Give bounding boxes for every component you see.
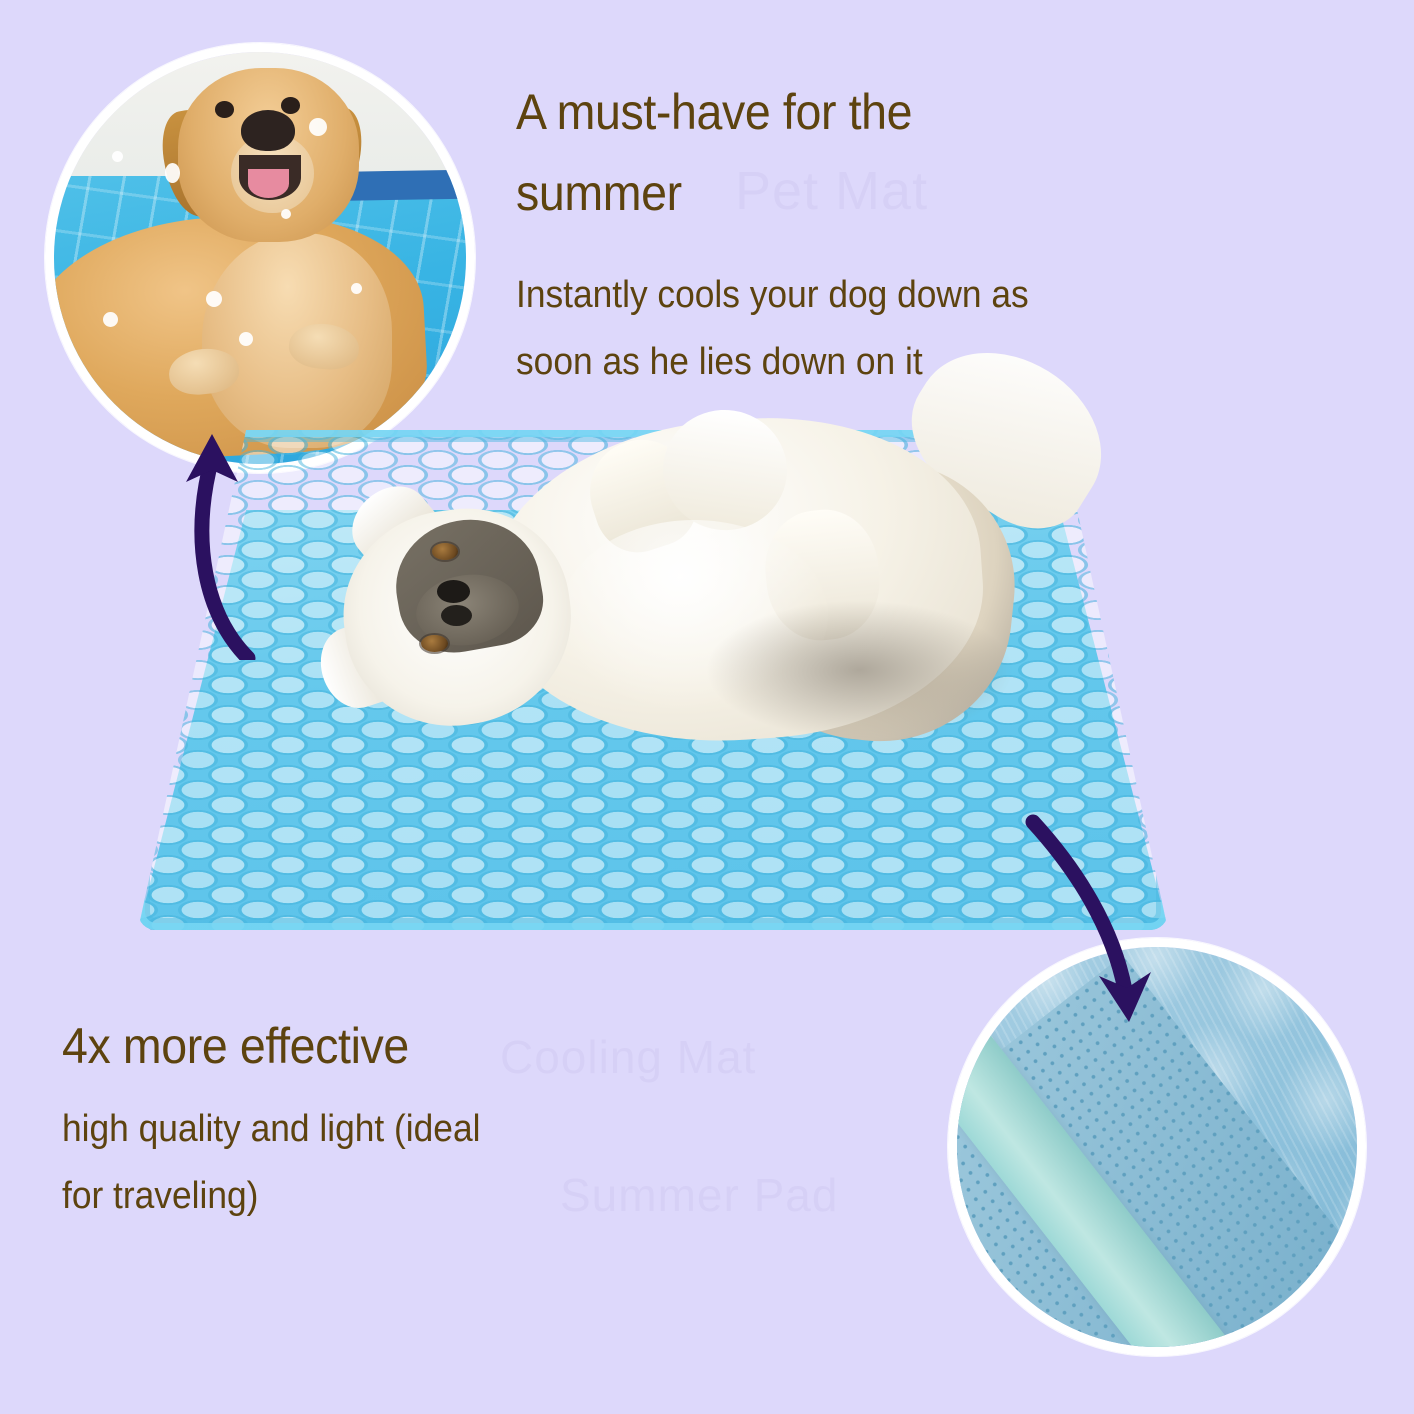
husky-eye-upper — [432, 543, 459, 560]
retriever-eye-left — [215, 101, 234, 117]
water-droplet — [351, 283, 362, 294]
bottom-headline: 4x more effective — [62, 1006, 657, 1087]
retriever-eye-right — [281, 97, 300, 113]
water-droplet — [103, 312, 118, 327]
top-body-text: Instantly cools your dog down as soon as… — [516, 262, 1223, 395]
water-droplet — [281, 209, 291, 219]
retriever-tongue — [248, 169, 289, 198]
callout-golden-retriever — [45, 43, 475, 473]
bottom-body-text: high quality and light (ideal for travel… — [62, 1096, 657, 1229]
water-droplet — [112, 151, 123, 162]
product-hero-image — [138, 430, 1168, 930]
callout-fabric-texture — [948, 938, 1366, 1356]
husky-nostril-upper — [437, 580, 470, 603]
golden-retriever-photo — [54, 52, 466, 464]
fabric-closeup-photo — [957, 947, 1357, 1347]
retriever-nose — [241, 110, 295, 151]
top-headline: A must-have for the summer — [516, 72, 1223, 234]
husky-nostril-lower — [441, 605, 472, 626]
husky-eye-lower — [421, 635, 448, 652]
husky-fur-shading — [705, 600, 1014, 740]
